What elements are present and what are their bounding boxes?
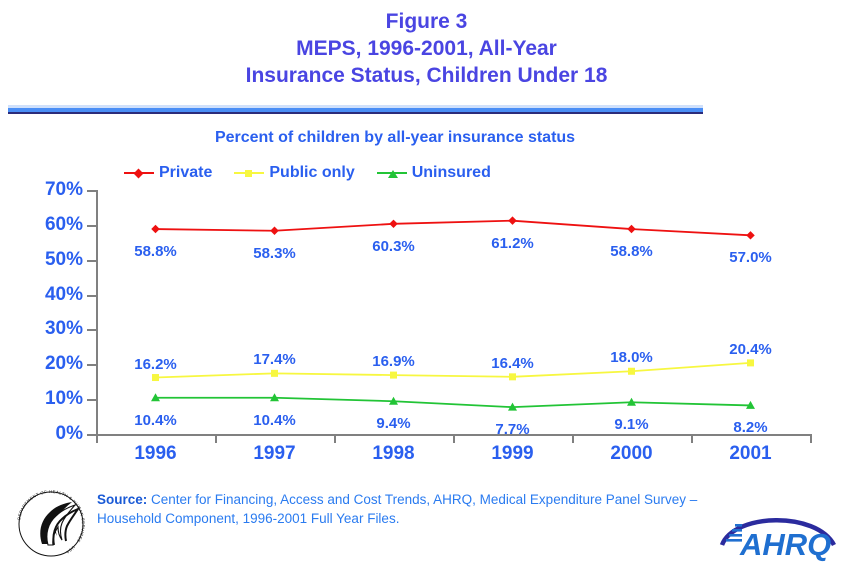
data-label: 58.3% xyxy=(253,245,296,262)
data-point-marker xyxy=(509,373,516,380)
data-label: 58.8% xyxy=(610,243,653,260)
data-label: 60.3% xyxy=(372,238,415,255)
x-axis-label: 1998 xyxy=(372,443,414,465)
data-point-marker xyxy=(508,216,516,224)
data-label: 9.4% xyxy=(376,415,410,432)
series-line-private xyxy=(156,221,751,236)
data-point-marker xyxy=(270,227,278,235)
x-axis-label: 1996 xyxy=(134,443,176,465)
x-axis-label: 2000 xyxy=(610,443,652,465)
x-axis-tick xyxy=(334,434,336,443)
data-point-marker xyxy=(747,359,754,366)
chart-region: Percent of children by all-year insuranc… xyxy=(0,0,853,569)
series-line-uninsured xyxy=(156,398,751,407)
data-point-marker xyxy=(390,372,397,379)
x-axis-tick xyxy=(215,434,217,443)
data-point-marker xyxy=(271,370,278,377)
ahrq-logo-text: AHRQ xyxy=(739,527,831,562)
data-point-marker xyxy=(151,225,159,233)
data-label: 58.8% xyxy=(134,243,177,260)
data-point-marker xyxy=(628,368,635,375)
data-point-marker xyxy=(389,220,397,228)
series-lines xyxy=(0,0,853,569)
x-axis-tick xyxy=(453,434,455,443)
source-note: Source: Center for Financing, Access and… xyxy=(97,490,717,528)
data-label: 61.2% xyxy=(491,235,534,252)
data-label: 20.4% xyxy=(729,341,772,358)
x-axis-label: 1999 xyxy=(491,443,533,465)
source-text: Center for Financing, Access and Cost Tr… xyxy=(97,492,697,526)
data-label: 17.4% xyxy=(253,351,296,368)
data-point-marker xyxy=(746,231,754,239)
data-label: 57.0% xyxy=(729,249,772,266)
x-axis-tick xyxy=(691,434,693,443)
source-label: Source: xyxy=(97,492,147,507)
data-label: 8.2% xyxy=(733,419,767,436)
data-label: 7.7% xyxy=(495,421,529,438)
hhs-seal-logo: DEPARTMENT OF HEALTH & HUMAN SERVICES · … xyxy=(14,487,88,561)
data-label: 9.1% xyxy=(614,416,648,433)
ahrq-logo: AHRQ xyxy=(712,505,844,563)
data-label: 16.2% xyxy=(134,356,177,373)
x-axis-tick xyxy=(810,434,812,443)
x-axis-tick xyxy=(96,434,98,443)
data-point-marker xyxy=(152,374,159,381)
x-axis-tick xyxy=(572,434,574,443)
data-label: 10.4% xyxy=(253,412,296,429)
data-point-marker xyxy=(627,225,635,233)
x-axis-label: 2001 xyxy=(729,443,771,465)
x-axis-label: 1997 xyxy=(253,443,295,465)
series-line-public-only xyxy=(156,363,751,378)
data-label: 10.4% xyxy=(134,412,177,429)
data-label: 18.0% xyxy=(610,349,653,366)
data-label: 16.9% xyxy=(372,353,415,370)
data-label: 16.4% xyxy=(491,355,534,372)
